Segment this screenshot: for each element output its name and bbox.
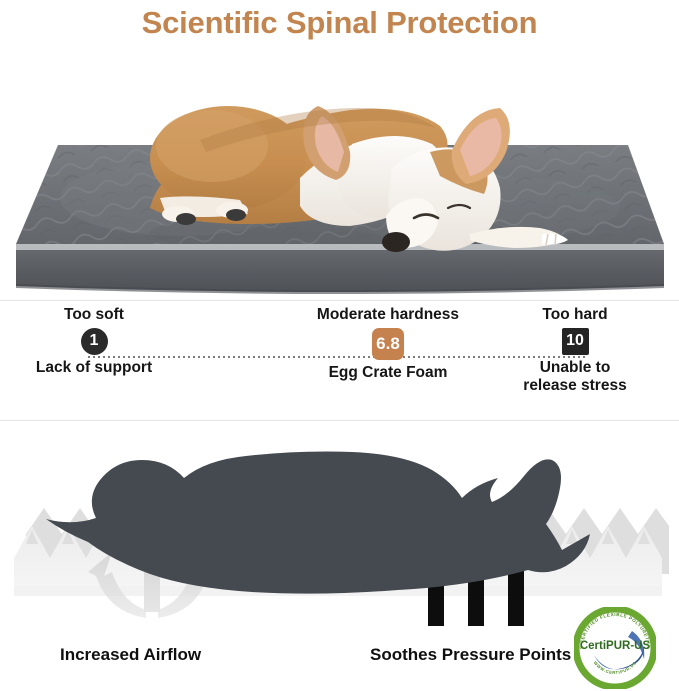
- badge-wordmark: CertiPUR-US: [580, 640, 651, 652]
- scale-stop-bottom-label: Lack of support: [14, 359, 174, 377]
- divider-top: [0, 300, 679, 301]
- scale-stop-top-label: Too soft: [14, 306, 174, 324]
- divider-bottom: [0, 420, 679, 421]
- page-title: Scientific Spinal Protection: [0, 0, 679, 46]
- scale-stop-bottom-label: Egg Crate Foam: [308, 364, 468, 382]
- scale-stop-too-hard: Too hard 10 Unable to release stress: [500, 306, 650, 394]
- caption-soothes-pressure-points: Soothes Pressure Points: [370, 645, 571, 665]
- infographic-root: Scientific Spinal Protection: [0, 0, 679, 691]
- scale-marker-68: 6.8: [372, 328, 404, 360]
- scale-stop-top-label: Too hard: [500, 306, 650, 324]
- certipur-us-badge: CertiPUR-US CONTAINS CERTIFIED FLEXIBLE …: [574, 607, 656, 689]
- scale-stop-moderate: Moderate hardness 6.8 Egg Crate Foam: [308, 306, 468, 382]
- hardness-scale: Too soft 1 Lack of support Moderate hard…: [0, 306, 679, 418]
- scale-stop-too-soft: Too soft 1 Lack of support: [14, 306, 174, 377]
- product-photo-dog-on-bed: [0, 48, 679, 298]
- scale-stop-top-label: Moderate hardness: [308, 306, 468, 324]
- scale-marker-10: 10: [562, 328, 589, 355]
- scale-stop-bottom-label-line2: release stress: [500, 377, 650, 395]
- caption-increased-airflow: Increased Airflow: [60, 645, 201, 665]
- scale-stop-bottom-label-line1: Unable to: [500, 359, 650, 377]
- scale-marker-1: 1: [81, 328, 108, 355]
